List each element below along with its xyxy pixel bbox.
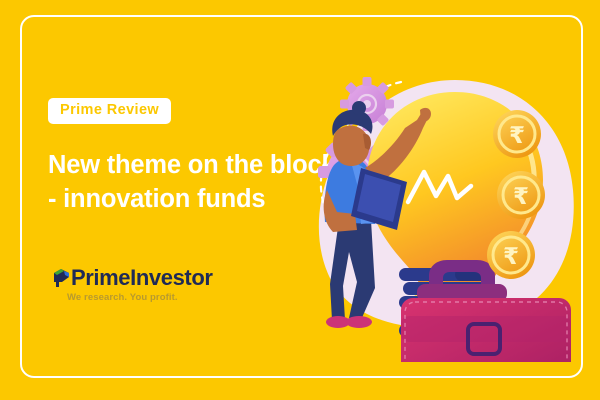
- svg-text:₹: ₹: [503, 244, 519, 270]
- headline-line-2: - innovation funds: [48, 182, 348, 216]
- primeinvestor-logo[interactable]: PrimeInvestor We research. You profit.: [53, 268, 213, 303]
- headline-line-1: New theme on the block: [48, 148, 348, 182]
- logo-row: PrimeInvestor: [53, 268, 213, 288]
- logo-wordmark: PrimeInvestor: [71, 268, 213, 288]
- text-column: Prime Review New theme on the block - in…: [48, 98, 348, 216]
- prime-review-badge[interactable]: Prime Review: [48, 98, 171, 124]
- logo-arrow-mark: [53, 268, 70, 288]
- page-title: New theme on the block - innovation fund…: [48, 148, 348, 216]
- rupee-coin-1: ₹: [493, 110, 541, 158]
- rupee-coin-2: ₹: [497, 171, 545, 219]
- logo-tagline: We research. You profit.: [67, 292, 213, 303]
- promo-card: Prime Review New theme on the block - in…: [0, 0, 600, 400]
- svg-text:₹: ₹: [513, 184, 529, 210]
- svg-text:₹: ₹: [509, 123, 525, 149]
- rupee-coin-3: ₹: [487, 231, 535, 279]
- hero-illustration: ₹ ₹ ₹: [305, 72, 595, 362]
